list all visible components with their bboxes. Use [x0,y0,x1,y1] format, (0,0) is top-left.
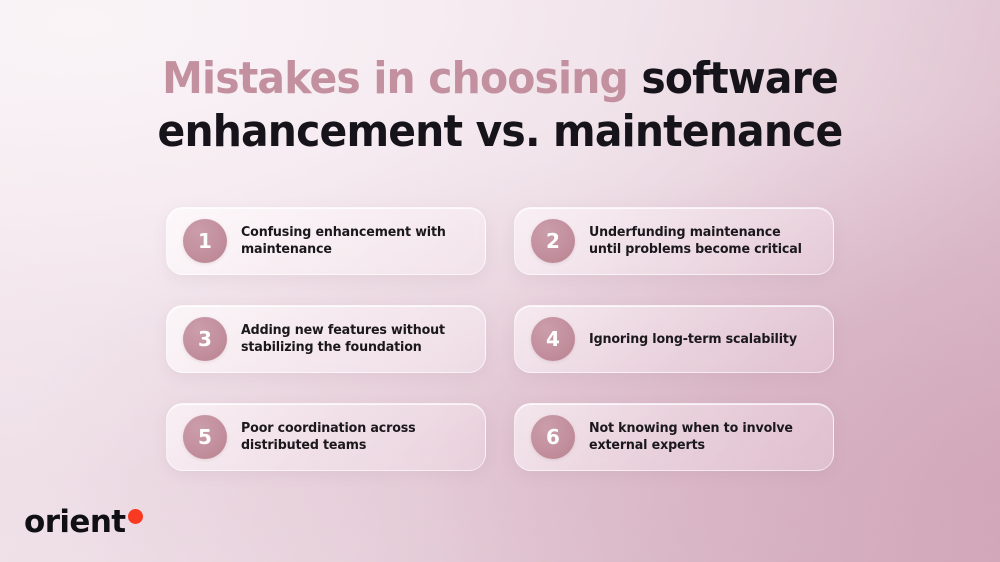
mistake-text-2: Underfunding maintenance until problems … [589,224,810,258]
mistake-card-6[interactable]: 6 Not knowing when to involve external e… [514,403,834,471]
title-line-1-rest: software [628,53,838,104]
mistake-number-badge-2: 2 [531,219,575,263]
mistake-text-1: Confusing enhancement with maintenance [241,224,462,258]
title-line-1: Mistakes in choosing software [35,52,965,105]
mistake-number-badge-3: 3 [183,317,227,361]
mistake-number-badge-1: 1 [183,219,227,263]
orient-logo[interactable]: orient [24,507,143,538]
mistake-text-4: Ignoring long-term scalability [589,331,797,348]
slide-canvas: Mistakes in choosing software enhancemen… [0,0,1000,562]
mistake-number-badge-6: 6 [531,415,575,459]
mistakes-card-grid: 1 Confusing enhancement with maintenance… [166,207,834,471]
mistake-number-badge-5: 5 [183,415,227,459]
logo-dot-icon [128,509,143,524]
page-title: Mistakes in choosing software enhancemen… [0,52,1000,158]
mistake-text-6: Not knowing when to involve external exp… [589,420,810,454]
mistake-number-badge-4: 4 [531,317,575,361]
mistake-card-5[interactable]: 5 Poor coordination across distributed t… [166,403,486,471]
mistake-text-3: Adding new features without stabilizing … [241,322,462,356]
mistake-text-5: Poor coordination across distributed tea… [241,420,462,454]
title-accent-text: Mistakes in choosing [162,53,628,104]
title-line-2: enhancement vs. maintenance [35,105,965,158]
mistake-card-4[interactable]: 4 Ignoring long-term scalability [514,305,834,373]
mistake-card-1[interactable]: 1 Confusing enhancement with maintenance [166,207,486,275]
mistake-card-2[interactable]: 2 Underfunding maintenance until problem… [514,207,834,275]
mistake-card-3[interactable]: 3 Adding new features without stabilizin… [166,305,486,373]
logo-wordmark: orient [24,507,126,538]
